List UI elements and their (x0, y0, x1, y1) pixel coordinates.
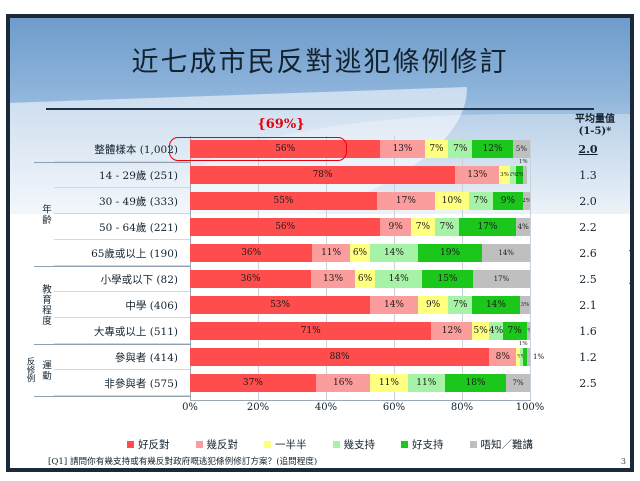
group-label-education: 教育程度 (36, 266, 54, 344)
footnote-question: [Q1] 請問你有幾支持或有幾反對政府嘅逃犯條例修訂方案？(追問程度) (48, 455, 317, 467)
legend-swatch-icon (127, 441, 134, 448)
row-label: 參與者 (414) (54, 344, 184, 370)
bar-segment: 4% (516, 218, 530, 236)
chart-axis-baseline (190, 400, 531, 401)
arrow-up-head (629, 276, 630, 284)
bar-segment: 17% (377, 192, 435, 210)
bar-segment: 2% (516, 166, 523, 184)
chart-row: 50 - 64歲 (221)56%9%7%7%17%4%2.2 (30, 214, 630, 240)
bar-segment: 3% (520, 296, 530, 314)
bar-segment: 7% (411, 218, 435, 236)
row-label: 50 - 64歲 (221) (54, 214, 184, 240)
row-mean-value: 2.1 (558, 292, 618, 318)
bar-segment: 36% (190, 244, 312, 262)
bar-segment: 13% (455, 166, 499, 184)
bar-segment: 1% (527, 322, 530, 340)
bar-segment: 11% (408, 374, 445, 392)
bar-segment: 9% (380, 218, 411, 236)
bar-segment (527, 348, 530, 366)
row-label: 小學或以下 (82) (54, 266, 184, 292)
legend-swatch-icon (470, 441, 477, 448)
chart-row: 65歲或以上 (190)36%11%6%14%19%14%2.6 (30, 240, 630, 266)
bar-segment: 55% (190, 192, 377, 210)
chart-row: 30 - 49歲 (333)55%17%10%7%9%2%2.0 (30, 188, 630, 214)
row-mean-value: 2.0 (558, 188, 618, 214)
row-label: 大專或以上 (511) (54, 318, 184, 344)
legend-item[interactable]: 好支持 (401, 437, 444, 452)
callout-69-percent: {69%} (236, 117, 326, 132)
legend-item[interactable]: 好反對 (127, 437, 170, 452)
bar-segment: 71% (190, 322, 431, 340)
row-mean-value: 2.6 (558, 240, 618, 266)
x-tick-label: 20% (235, 402, 281, 413)
legend-label: 好支持 (412, 437, 444, 452)
mean-header-line1: 平均量值 (550, 114, 630, 126)
row-mean-value: 2.5 (558, 370, 618, 396)
bar-segment: 15% (422, 270, 473, 288)
row-bar: 71%12%5%4%7%1% (190, 322, 530, 340)
bar-segment: 14% (482, 244, 530, 262)
row-bar: 56%9%7%7%17%4% (190, 218, 530, 236)
legend-item[interactable]: 唔知／難講 (470, 437, 534, 452)
chart-row: 參與者 (414)1%1%88%8%1%1%1.2 (30, 344, 630, 370)
slide-canvas: 近七成市民反對逃犯條例修訂 平均量值 (1-5)* {69%} 整體樣本 (1,… (10, 18, 630, 468)
chart-row: 大專或以上 (511)71%12%5%4%7%1%1.6 (30, 318, 630, 344)
stacked-bar-chart: 整體樣本 (1,002)56%13%7%7%12%5%2.014 - 29歲 (… (30, 136, 630, 428)
row-bar: 36%13%6%14%15%17% (190, 270, 530, 288)
bar-segment: 5% (472, 322, 489, 340)
group-label-movement-2: 運動 (36, 344, 54, 396)
bar-segment: 13% (311, 270, 355, 288)
bar-segment: 78% (190, 166, 455, 184)
bar-segment: 7% (503, 322, 527, 340)
bar-segment: 36% (190, 270, 311, 288)
bar-segment: 5% (513, 140, 530, 158)
bar-segment: 7% (469, 192, 493, 210)
chart-row: 小學或以下 (82)36%13%6%14%15%17%2.5 (30, 266, 630, 292)
legend-label: 好反對 (138, 437, 170, 452)
legend-label: 幾反對 (207, 437, 239, 452)
page-number: 3 (621, 457, 626, 466)
row-mean-value: 2.2 (558, 214, 618, 240)
legend-item[interactable]: 幾反對 (196, 437, 239, 452)
row-label: 30 - 49歲 (333) (54, 188, 184, 214)
row-label: 整體樣本 (1,002) (54, 136, 184, 162)
chart-row: 中學 (406)53%14%9%7%14%3%2.1 (30, 292, 630, 318)
bar-segment: 14% (375, 270, 422, 288)
row-bar: 36%11%6%14%19%14% (190, 244, 530, 262)
page-title: 近七成市民反對逃犯條例修訂 (10, 40, 630, 79)
legend-label: 唔知／難講 (481, 437, 534, 452)
row-bar: 37%16%11%11%18%7% (190, 374, 530, 392)
row-bar: 88%8%1%1% (190, 348, 530, 366)
trend-arrows (626, 150, 630, 400)
mean-column-header: 平均量值 (1-5)* (550, 114, 630, 138)
bar-segment-label: 1% (519, 159, 528, 165)
title-divider (46, 108, 594, 110)
bar-segment: 14% (472, 296, 520, 314)
row-label: 65歲或以上 (190) (54, 240, 184, 266)
bar-segment: 13% (380, 140, 424, 158)
bar-segment: 12% (472, 140, 513, 158)
x-tick-label: 0% (167, 402, 213, 413)
x-tick-label: 40% (303, 402, 349, 413)
row-bar: 53%14%9%7%14%3% (190, 296, 530, 314)
chart-row: 整體樣本 (1,002)56%13%7%7%12%5%2.0 (30, 136, 630, 162)
bar-segment: 56% (190, 140, 380, 158)
bar-segment: 10% (435, 192, 469, 210)
bar-segment: 3% (499, 166, 509, 184)
bar-segment: 7% (448, 296, 472, 314)
group-divider (34, 344, 190, 345)
bar-segment: 12% (431, 322, 472, 340)
legend-swatch-icon (196, 441, 203, 448)
x-tick-label: 100% (507, 402, 553, 413)
slide-root: 近七成市民反對逃犯條例修訂 平均量值 (1-5)* {69%} 整體樣本 (1,… (0, 0, 640, 481)
chart-row: 14 - 29歲 (251)1%78%13%3%2%2%1.3 (30, 162, 630, 188)
x-tick-label: 60% (371, 402, 417, 413)
legend-swatch-icon (264, 441, 271, 448)
row-mean-value: 1.3 (558, 162, 618, 188)
bar-segment: 8% (489, 348, 516, 366)
row-mean-value: 2.0 (558, 136, 618, 162)
bar-segment: 11% (370, 374, 407, 392)
bar-segment: 7% (425, 140, 449, 158)
group-divider (34, 266, 190, 267)
legend-item[interactable]: 幾支持 (333, 437, 376, 452)
chart-row: 非參與者 (575)37%16%11%11%18%7%2.5 (30, 370, 630, 396)
row-bar: 55%17%10%7%9%2% (190, 192, 530, 210)
bar-segment-label: 1% (533, 348, 544, 366)
row-mean-value: 1.6 (558, 318, 618, 344)
bar-segment: 37% (190, 374, 316, 392)
row-bar: 78%13%3%2%2% (190, 166, 530, 184)
row-mean-value: 1.2 (558, 344, 618, 370)
group-label-age: 年齡 (36, 162, 54, 266)
row-label: 中學 (406) (54, 292, 184, 318)
bar-segment: 56% (190, 218, 380, 236)
bar-segment-label: 1% (519, 341, 528, 347)
chart-legend: 好反對幾反對一半半幾支持好支持唔知／難講 (30, 436, 630, 452)
arrow-down-head (629, 250, 630, 258)
bar-segment: 88% (190, 348, 489, 366)
bar-segment: 11% (312, 244, 349, 262)
bar-segment: 6% (350, 244, 370, 262)
group-divider (34, 396, 190, 397)
bar-segment (523, 166, 526, 184)
bar-segment: 14% (370, 244, 418, 262)
bar-segment: 16% (316, 374, 370, 392)
row-label: 14 - 29歲 (251) (54, 162, 184, 188)
x-tick-label: 80% (439, 402, 485, 413)
row-mean-value: 2.5 (558, 266, 618, 292)
bar-segment: 2% (510, 166, 517, 184)
legend-swatch-icon (333, 441, 340, 448)
legend-swatch-icon (401, 441, 408, 448)
row-bar: 56%13%7%7%12%5% (190, 140, 530, 158)
bar-segment: 53% (190, 296, 370, 314)
row-label: 非參與者 (575) (54, 370, 184, 396)
bar-segment: 2% (523, 192, 530, 210)
bar-segment: 9% (493, 192, 524, 210)
bar-segment: 18% (445, 374, 506, 392)
group-divider (34, 162, 190, 163)
bar-segment: 9% (418, 296, 449, 314)
bar-segment: 6% (355, 270, 375, 288)
bar-segment: 14% (370, 296, 418, 314)
bar-segment: 17% (473, 270, 530, 288)
legend-item[interactable]: 一半半 (264, 437, 307, 452)
bar-segment: 4% (489, 322, 503, 340)
bar-segment: 7% (506, 374, 530, 392)
legend-label: 一半半 (275, 437, 307, 452)
bar-segment: 7% (435, 218, 459, 236)
bar-segment: 17% (459, 218, 517, 236)
legend-label: 幾支持 (344, 437, 376, 452)
bar-segment: 19% (418, 244, 483, 262)
bar-segment: 7% (448, 140, 472, 158)
